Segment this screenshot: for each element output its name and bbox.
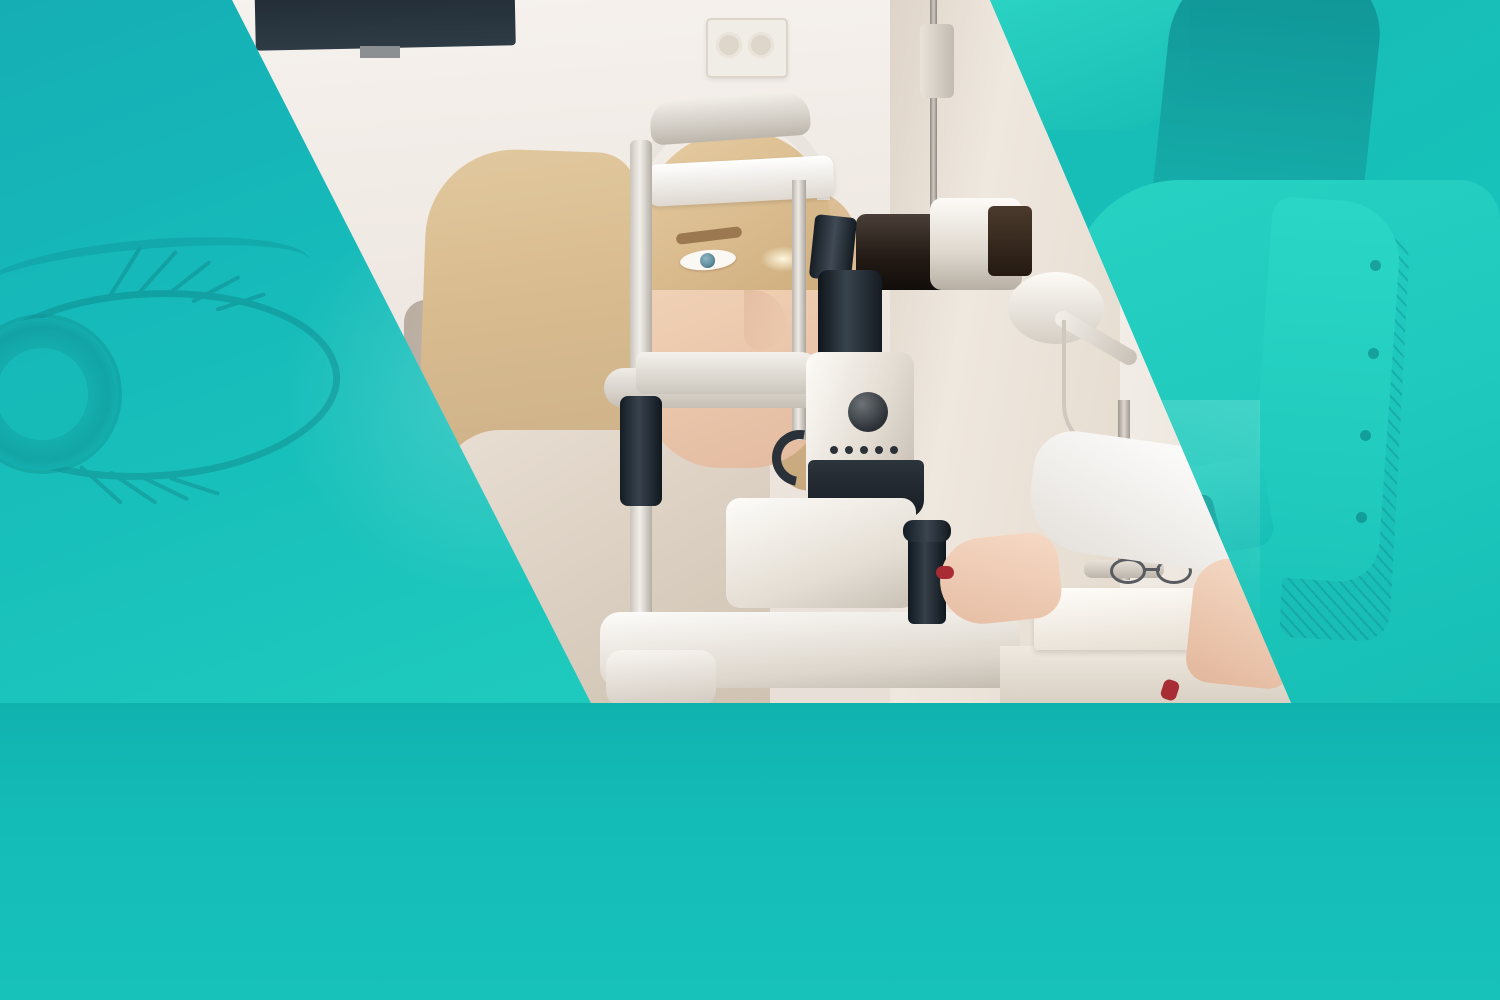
photo-monitor-stand [360,46,400,58]
photo-chinrest [636,352,824,394]
photo-monitor [254,0,516,51]
photo-eyepiece [988,206,1032,276]
photo-wall-socket [706,18,788,78]
eye-photo-icon [0,250,380,550]
photo-instrument-dots [830,446,900,454]
features-bar: Experienced Optometrists Vision Testing [0,703,1500,1000]
photo-knob-left [620,396,662,506]
photo-instrument-base [726,498,916,608]
photo-instrument-dial [848,392,888,432]
photo-instrument-plate-front [606,650,716,705]
photo-doctor-nail-left [936,566,954,579]
hero-section [0,0,1500,705]
eye-care-banner: Experienced Optometrists Vision Testing [0,0,1500,1000]
photo-wall-bracket [920,24,954,98]
photo-optics-tube-lower [818,270,882,362]
